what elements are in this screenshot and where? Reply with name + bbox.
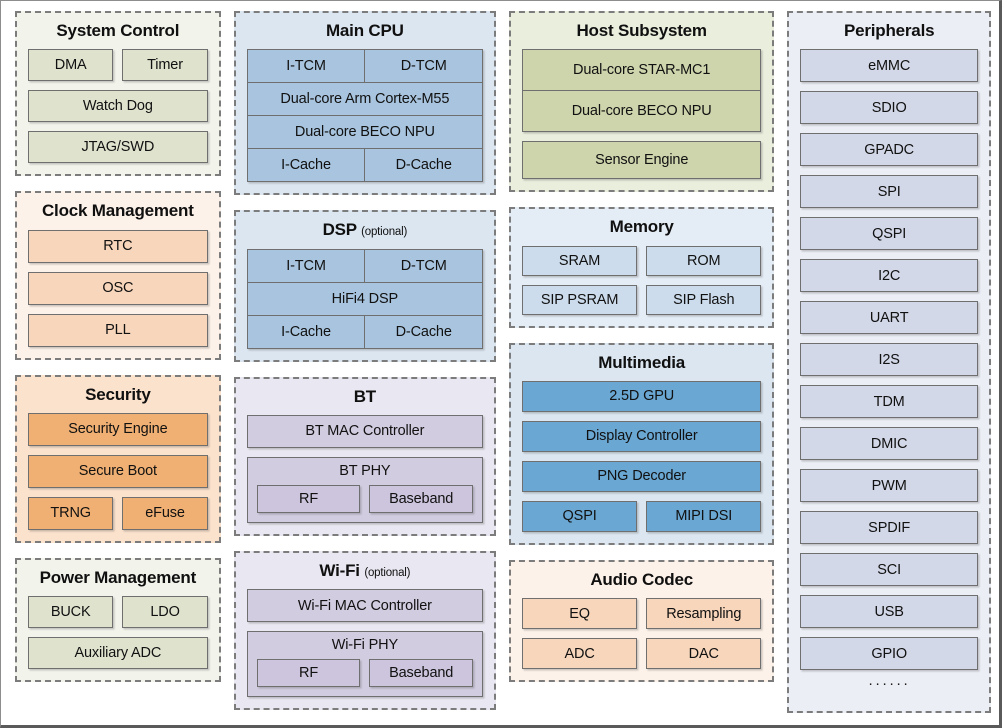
block-display-controller[interactable]: Display Controller bbox=[522, 421, 761, 452]
security-blocks: Security Engine Secure Boot TRNG eFuse bbox=[28, 413, 208, 530]
block-dsp-core[interactable]: HiFi4 DSP bbox=[248, 283, 482, 315]
block-adc[interactable]: ADC bbox=[522, 638, 637, 669]
block-ldo[interactable]: LDO bbox=[122, 596, 207, 628]
group-host-subsystem[interactable]: Host Subsystem Dual-core STAR-MC1 Dual-c… bbox=[509, 11, 774, 192]
block-peripheral[interactable]: PWM bbox=[800, 469, 978, 502]
column-left: System Control DMA Timer Watch Dog JTAG/… bbox=[15, 11, 221, 682]
block-peripheral[interactable]: GPADC bbox=[800, 133, 978, 166]
group-title-power-management: Power Management bbox=[28, 567, 208, 588]
group-title-system-control: System Control bbox=[28, 20, 208, 41]
block-pll[interactable]: PLL bbox=[28, 314, 208, 347]
block-wifi-phy-title: Wi-Fi PHY bbox=[257, 637, 473, 653]
group-power-management[interactable]: Power Management BUCK LDO Auxiliary ADC bbox=[15, 558, 221, 682]
block-osc[interactable]: OSC bbox=[28, 272, 208, 305]
group-title-main-cpu: Main CPU bbox=[247, 20, 483, 41]
block-peripheral[interactable]: SCI bbox=[800, 553, 978, 586]
column-host: Host Subsystem Dual-core STAR-MC1 Dual-c… bbox=[509, 11, 774, 682]
block-dsp-d-cache[interactable]: D-Cache bbox=[364, 316, 482, 348]
group-title-security: Security bbox=[28, 384, 208, 405]
block-peripheral[interactable]: eMMC bbox=[800, 49, 978, 82]
block-sip-flash[interactable]: SIP Flash bbox=[646, 285, 761, 315]
block-security-engine[interactable]: Security Engine bbox=[28, 413, 208, 446]
block-dsp-d-tcm[interactable]: D-TCM bbox=[364, 250, 482, 282]
block-star-mc1[interactable]: Dual-core STAR-MC1 bbox=[523, 50, 760, 90]
clock-management-blocks: RTC OSC PLL bbox=[28, 230, 208, 347]
block-peripheral[interactable]: USB bbox=[800, 595, 978, 628]
peripherals-list: eMMCSDIOGPADCSPIQSPII2CUARTI2STDMDMICPWM… bbox=[800, 49, 978, 670]
power-management-blocks: BUCK LDO Auxiliary ADC bbox=[28, 596, 208, 669]
block-png-decoder[interactable]: PNG Decoder bbox=[522, 461, 761, 492]
block-peripheral[interactable]: GPIO bbox=[800, 637, 978, 670]
group-title-dsp: DSP (optional) bbox=[247, 219, 483, 240]
group-title-bt: BT bbox=[247, 386, 483, 407]
block-bt-baseband[interactable]: Baseband bbox=[369, 485, 473, 513]
block-main-cpu-d-tcm[interactable]: D-TCM bbox=[364, 50, 482, 82]
block-dsp-i-tcm[interactable]: I-TCM bbox=[248, 250, 365, 282]
group-title-peripherals: Peripherals bbox=[800, 20, 978, 41]
group-title-memory: Memory bbox=[522, 216, 761, 237]
system-control-blocks: DMA Timer Watch Dog JTAG/SWD bbox=[28, 49, 208, 163]
block-main-cpu-i-tcm[interactable]: I-TCM bbox=[248, 50, 365, 82]
main-cpu-blocks: I-TCM D-TCM Dual-core Arm Cortex-M55 Dua… bbox=[247, 49, 483, 182]
block-buck[interactable]: BUCK bbox=[28, 596, 113, 628]
block-peripheral[interactable]: TDM bbox=[800, 385, 978, 418]
block-main-cpu-d-cache[interactable]: D-Cache bbox=[364, 149, 482, 181]
block-peripheral[interactable]: SPDIF bbox=[800, 511, 978, 544]
bt-blocks: BT MAC Controller BT PHY RF Baseband bbox=[247, 415, 483, 523]
block-auxiliary-adc[interactable]: Auxiliary ADC bbox=[28, 637, 208, 669]
group-title-host-subsystem: Host Subsystem bbox=[522, 20, 761, 41]
block-watch-dog[interactable]: Watch Dog bbox=[28, 90, 208, 122]
group-system-control[interactable]: System Control DMA Timer Watch Dog JTAG/… bbox=[15, 11, 221, 176]
block-bt-phy[interactable]: BT PHY RF Baseband bbox=[247, 457, 483, 523]
block-bt-mac-controller[interactable]: BT MAC Controller bbox=[247, 415, 483, 448]
column-cpu: Main CPU I-TCM D-TCM Dual-core Arm Corte… bbox=[234, 11, 496, 710]
group-clock-management[interactable]: Clock Management RTC OSC PLL bbox=[15, 191, 221, 359]
block-sram[interactable]: SRAM bbox=[522, 246, 637, 276]
group-title-wifi: Wi-Fi (optional) bbox=[247, 560, 483, 581]
group-peripherals[interactable]: Peripherals eMMCSDIOGPADCSPIQSPII2CUARTI… bbox=[787, 11, 991, 713]
block-dma[interactable]: DMA bbox=[28, 49, 113, 81]
block-efuse[interactable]: eFuse bbox=[122, 497, 207, 530]
block-mipi-dsi[interactable]: MIPI DSI bbox=[646, 501, 761, 532]
block-dsp-i-cache[interactable]: I-Cache bbox=[248, 316, 365, 348]
block-dac[interactable]: DAC bbox=[646, 638, 761, 669]
block-peripheral[interactable]: QSPI bbox=[800, 217, 978, 250]
multimedia-blocks: 2.5D GPU Display Controller PNG Decoder … bbox=[522, 381, 761, 532]
block-secure-boot[interactable]: Secure Boot bbox=[28, 455, 208, 488]
block-wifi-mac-controller[interactable]: Wi-Fi MAC Controller bbox=[247, 589, 483, 622]
block-bt-phy-title: BT PHY bbox=[257, 463, 473, 479]
group-title-clock-management: Clock Management bbox=[28, 200, 208, 221]
peripherals-ellipsis: ······ bbox=[800, 676, 978, 691]
column-peripherals: Peripherals eMMCSDIOGPADCSPIQSPII2CUARTI… bbox=[787, 11, 991, 713]
memory-blocks: SRAM ROM SIP PSRAM SIP Flash bbox=[522, 246, 761, 315]
group-bt[interactable]: BT BT MAC Controller BT PHY RF Baseband bbox=[234, 377, 496, 536]
group-security[interactable]: Security Security Engine Secure Boot TRN… bbox=[15, 375, 221, 543]
group-title-multimedia: Multimedia bbox=[522, 352, 761, 373]
group-dsp[interactable]: DSP (optional) I-TCM D-TCM HiFi4 DSP I-C… bbox=[234, 210, 496, 361]
group-title-wifi-optional: (optional) bbox=[364, 567, 410, 579]
audio-codec-blocks: EQ Resampling ADC DAC bbox=[522, 598, 761, 669]
block-wifi-rf[interactable]: RF bbox=[257, 659, 361, 687]
host-subsystem-blocks: Dual-core STAR-MC1 Dual-core BECO NPU Se… bbox=[522, 49, 761, 179]
block-wifi-phy[interactable]: Wi-Fi PHY RF Baseband bbox=[247, 631, 483, 697]
group-wifi[interactable]: Wi-Fi (optional) Wi-Fi MAC Controller Wi… bbox=[234, 551, 496, 710]
block-peripheral[interactable]: SDIO bbox=[800, 91, 978, 124]
block-rtc[interactable]: RTC bbox=[28, 230, 208, 263]
block-peripheral[interactable]: DMIC bbox=[800, 427, 978, 460]
block-bt-rf[interactable]: RF bbox=[257, 485, 361, 513]
block-peripheral[interactable]: I2C bbox=[800, 259, 978, 292]
dsp-blocks: I-TCM D-TCM HiFi4 DSP I-Cache D-Cache bbox=[247, 249, 483, 349]
group-memory[interactable]: Memory SRAM ROM SIP PSRAM SIP Flash bbox=[509, 207, 774, 327]
block-wifi-baseband[interactable]: Baseband bbox=[369, 659, 473, 687]
block-peripheral[interactable]: SPI bbox=[800, 175, 978, 208]
block-multimedia-qspi[interactable]: QSPI bbox=[522, 501, 637, 532]
group-title-dsp-text: DSP bbox=[323, 220, 357, 239]
block-eq[interactable]: EQ bbox=[522, 598, 637, 629]
block-gpu[interactable]: 2.5D GPU bbox=[522, 381, 761, 412]
block-timer[interactable]: Timer bbox=[122, 49, 207, 81]
group-title-audio-codec: Audio Codec bbox=[522, 569, 761, 590]
block-jtag-swd[interactable]: JTAG/SWD bbox=[28, 131, 208, 163]
block-resampling[interactable]: Resampling bbox=[646, 598, 761, 629]
block-sensor-engine[interactable]: Sensor Engine bbox=[522, 141, 761, 179]
block-host-beco-npu[interactable]: Dual-core BECO NPU bbox=[523, 91, 760, 131]
block-peripheral[interactable]: I2S bbox=[800, 343, 978, 376]
block-sip-psram[interactable]: SIP PSRAM bbox=[522, 285, 637, 315]
block-main-cpu-npu[interactable]: Dual-core BECO NPU bbox=[248, 116, 482, 148]
host-cores: Dual-core STAR-MC1 Dual-core BECO NPU bbox=[522, 49, 761, 132]
block-main-cpu-core[interactable]: Dual-core Arm Cortex-M55 bbox=[248, 83, 482, 115]
group-main-cpu[interactable]: Main CPU I-TCM D-TCM Dual-core Arm Corte… bbox=[234, 11, 496, 195]
group-title-dsp-optional: (optional) bbox=[361, 226, 407, 238]
soc-block-diagram: System Control DMA Timer Watch Dog JTAG/… bbox=[0, 0, 1002, 728]
group-multimedia[interactable]: Multimedia 2.5D GPU Display Controller P… bbox=[509, 343, 774, 545]
block-trng[interactable]: TRNG bbox=[28, 497, 113, 530]
group-audio-codec[interactable]: Audio Codec EQ Resampling ADC DAC bbox=[509, 560, 774, 682]
block-main-cpu-i-cache[interactable]: I-Cache bbox=[248, 149, 365, 181]
diagram-columns: System Control DMA Timer Watch Dog JTAG/… bbox=[1, 1, 1002, 723]
group-title-wifi-text: Wi-Fi bbox=[319, 561, 359, 580]
wifi-blocks: Wi-Fi MAC Controller Wi-Fi PHY RF Baseba… bbox=[247, 589, 483, 697]
block-peripheral[interactable]: UART bbox=[800, 301, 978, 334]
block-rom[interactable]: ROM bbox=[646, 246, 761, 276]
